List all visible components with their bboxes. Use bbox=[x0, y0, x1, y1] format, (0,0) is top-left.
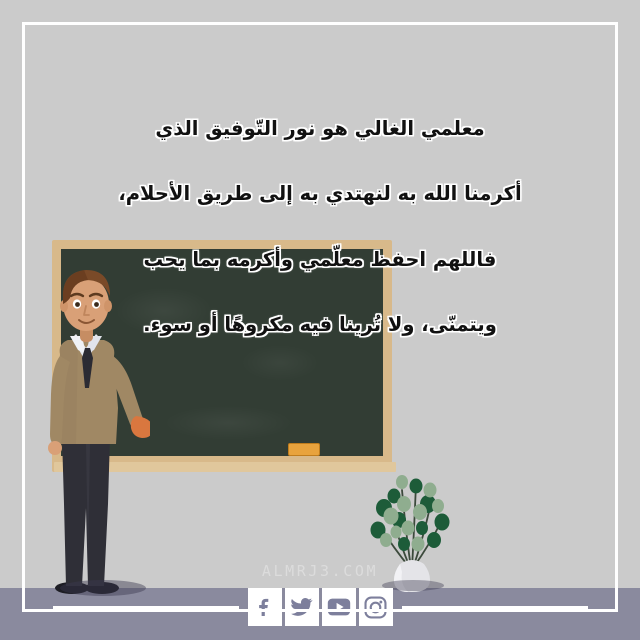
teacher-character bbox=[38, 258, 150, 598]
twitter-icon[interactable] bbox=[285, 588, 319, 626]
divider-left bbox=[53, 606, 239, 609]
instagram-icon[interactable] bbox=[359, 588, 393, 626]
social-icon-group bbox=[248, 588, 393, 626]
poster-canvas: معلمي الغالي هو نور التّوفيق الذي أكرمنا… bbox=[0, 0, 640, 640]
divider-right bbox=[402, 606, 588, 609]
chalk-eraser bbox=[288, 443, 320, 456]
watermark: ALMRJ3.COM bbox=[0, 561, 640, 580]
social-bar bbox=[0, 586, 640, 628]
youtube-icon[interactable] bbox=[322, 588, 356, 626]
facebook-icon[interactable] bbox=[248, 588, 282, 626]
watermark-text: ALMRJ3.COM bbox=[262, 562, 378, 580]
